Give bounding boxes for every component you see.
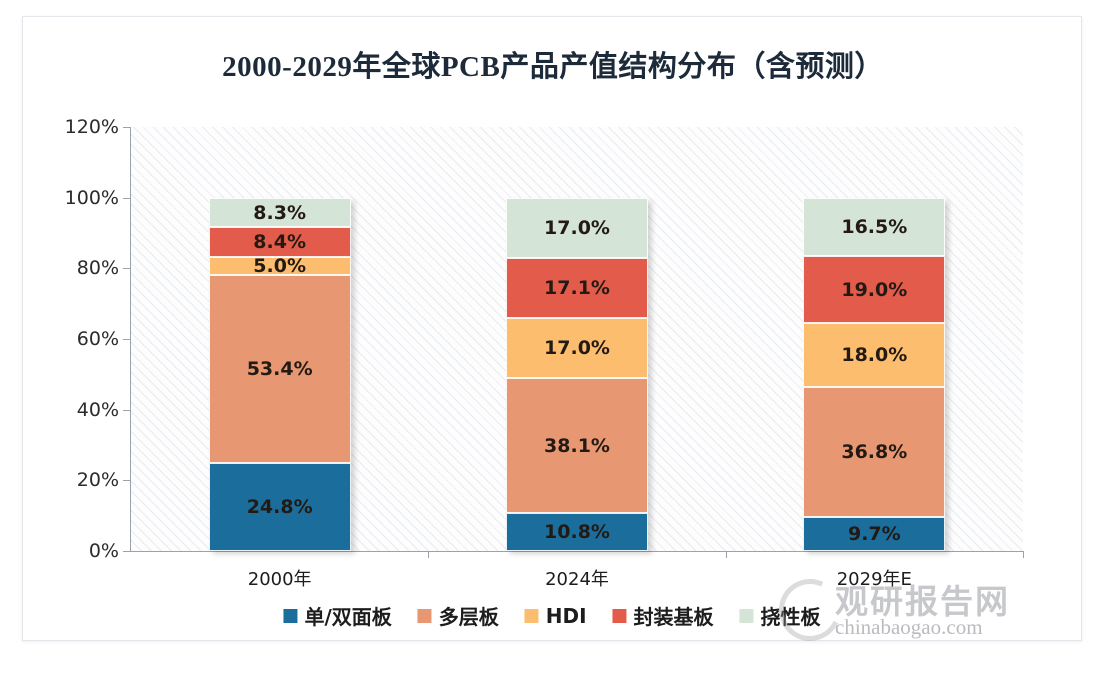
legend-label: 单/双面板 [304, 601, 391, 630]
bar-segment-value-label: 10.8% [544, 521, 610, 543]
y-tick-mark [123, 551, 131, 552]
bar-segment[interactable]: 36.8% [803, 387, 945, 517]
y-tick-mark [123, 410, 131, 411]
y-tick-mark [123, 198, 131, 199]
legend-item[interactable]: 多层板 [418, 601, 499, 630]
legend-item[interactable]: 挠性板 [740, 601, 821, 630]
bar-segment-value-label: 17.0% [544, 337, 610, 359]
y-tick-mark [123, 339, 131, 340]
legend-item[interactable]: 封装基板 [613, 601, 714, 630]
y-tick-label: 0% [55, 540, 119, 562]
bar-stack[interactable]: 10.8%38.1%17.0%17.1%17.0% [506, 198, 648, 551]
x-tick-mark [428, 551, 429, 558]
bar-segment-value-label: 17.1% [544, 277, 610, 299]
y-tick-mark [123, 480, 131, 481]
legend-color-swatch [740, 609, 754, 623]
bar-segment-value-label: 38.1% [544, 435, 610, 457]
bar-segment[interactable]: 8.3% [209, 198, 351, 227]
bar-segment[interactable]: 16.5% [803, 198, 945, 256]
bar-segment[interactable]: 17.0% [506, 318, 648, 378]
bar-segment[interactable]: 19.0% [803, 256, 945, 323]
x-axis-line [130, 551, 1024, 552]
x-tick-mark [1023, 551, 1024, 558]
bar-segment[interactable]: 5.0% [209, 257, 351, 275]
page-background: 2000-2029年全球PCB产品产值结构分布（含预测） 0%20%40%60%… [0, 0, 1106, 678]
bar-segment-value-label: 8.4% [253, 231, 306, 253]
bar-segment-value-label: 53.4% [247, 358, 313, 380]
x-tick-label: 2000年 [200, 565, 360, 591]
bar-segment-value-label: 36.8% [841, 441, 907, 463]
y-tick-label: 80% [55, 257, 119, 279]
bar-segment[interactable]: 18.0% [803, 323, 945, 387]
bar-segment[interactable]: 10.8% [506, 513, 648, 551]
y-tick-label: 100% [55, 187, 119, 209]
bar-segment-value-label: 9.7% [848, 523, 901, 545]
chart-card: 2000-2029年全球PCB产品产值结构分布（含预测） 0%20%40%60%… [22, 16, 1082, 641]
bar-segment[interactable]: 9.7% [803, 517, 945, 551]
y-tick-label: 60% [55, 328, 119, 350]
bar-segment[interactable]: 24.8% [209, 463, 351, 551]
bar-segment-value-label: 24.8% [247, 496, 313, 518]
chart-legend: 单/双面板多层板HDI封装基板挠性板 [269, 595, 834, 636]
x-tick-mark [726, 551, 727, 558]
legend-color-swatch [613, 609, 627, 623]
bar-segment[interactable]: 8.4% [209, 227, 351, 257]
bar-segment-value-label: 5.0% [253, 255, 306, 277]
legend-item[interactable]: HDI [525, 604, 587, 628]
y-tick-mark [123, 127, 131, 128]
legend-color-swatch [525, 609, 539, 623]
bar-segment[interactable]: 38.1% [506, 378, 648, 513]
bar-segment[interactable]: 17.0% [506, 198, 648, 258]
bar-stack[interactable]: 24.8%53.4%5.0%8.4%8.3% [209, 198, 351, 551]
y-tick-label: 40% [55, 399, 119, 421]
bar-stack[interactable]: 9.7%36.8%18.0%19.0%16.5% [803, 198, 945, 551]
bar-segment-value-label: 19.0% [841, 279, 907, 301]
legend-color-swatch [283, 609, 297, 623]
bar-segment[interactable]: 53.4% [209, 275, 351, 464]
y-tick-label: 120% [55, 116, 119, 138]
watermark-url: chinabaogao.com [835, 615, 983, 640]
bar-segment[interactable]: 17.1% [506, 258, 648, 318]
legend-label: 挠性板 [761, 601, 821, 630]
y-tick-mark [123, 268, 131, 269]
bar-segment-value-label: 16.5% [841, 216, 907, 238]
x-tick-label: 2029年E [794, 565, 954, 591]
bar-segment-value-label: 18.0% [841, 344, 907, 366]
bar-segment-value-label: 17.0% [544, 217, 610, 239]
page-title: 2000-2029年全球PCB产品产值结构分布（含预测） [23, 43, 1083, 85]
legend-label: HDI [546, 604, 587, 628]
legend-label: 封装基板 [634, 601, 714, 630]
legend-label: 多层板 [439, 601, 499, 630]
legend-color-swatch [418, 609, 432, 623]
y-tick-label: 20% [55, 469, 119, 491]
legend-item[interactable]: 单/双面板 [283, 601, 391, 630]
x-tick-label: 2024年 [497, 565, 657, 591]
bar-segment-value-label: 8.3% [253, 202, 306, 224]
